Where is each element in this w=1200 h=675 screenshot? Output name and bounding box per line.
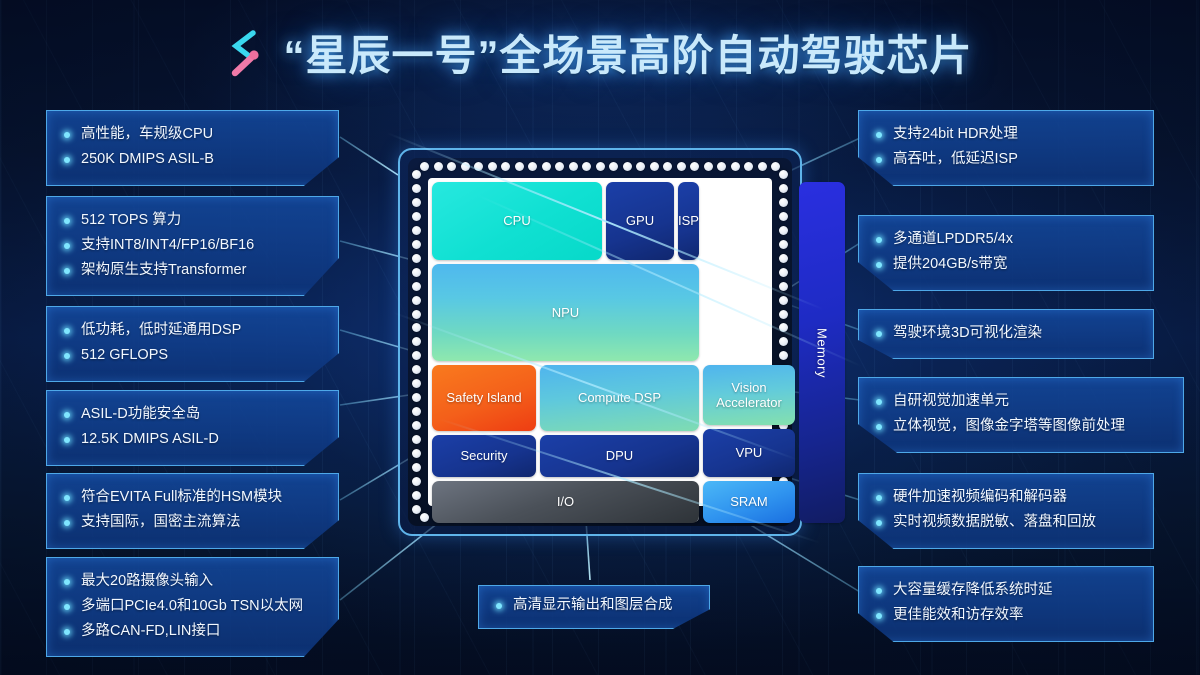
callout-line: 支持INT8/INT4/FP16/BF16 — [63, 233, 324, 258]
callout-list: 最大20路摄像头输入 多端口PCIe4.0和10Gb TSN以太网 多路CAN-… — [63, 569, 324, 644]
callout-line: 更佳能效和访存效率 — [875, 603, 1139, 628]
callout-line: 250K DMIPS ASIL-B — [63, 147, 324, 172]
callout-line: 多路CAN-FD,LIN接口 — [63, 619, 324, 644]
callout-list: 大容量缓存降低系统时延 更佳能效和访存效率 — [875, 578, 1139, 628]
block-memory-label: Memory — [814, 328, 829, 378]
callout-isp[interactable]: 支持24bit HDR处理 高吞吐，低延迟ISP — [858, 110, 1154, 186]
chip-pins-top — [420, 162, 780, 171]
callout-line: 提供204GB/s带宽 — [875, 252, 1139, 277]
callout-vpu[interactable]: 硬件加速视频编码和解码器 实时视频数据脱敏、落盘和回放 — [858, 473, 1154, 549]
callout-list: 驾驶环境3D可视化渲染 — [875, 321, 1139, 346]
callout-line: 支持24bit HDR处理 — [875, 122, 1139, 147]
callout-line: 多端口PCIe4.0和10Gb TSN以太网 — [63, 594, 324, 619]
callout-list: ASIL-D功能安全岛 12.5K DMIPS ASIL-D — [63, 402, 324, 452]
page-title: “星辰一号”全场景高阶自动驾驶芯片 — [283, 22, 972, 83]
callout-line: 大容量缓存降低系统时延 — [875, 578, 1139, 603]
callout-sram[interactable]: 大容量缓存降低系统时延 更佳能效和访存效率 — [858, 566, 1154, 642]
die-row-npu: NPU — [432, 264, 699, 361]
callout-list: 符合EVITA Full标准的HSM模块 支持国际，国密主流算法 — [63, 485, 324, 535]
callout-line: 架构原生支持Transformer — [63, 258, 324, 283]
callout-line: 高性能，车规级CPU — [63, 122, 324, 147]
chip-pins-left — [412, 170, 421, 514]
callout-line: 支持国际，国密主流算法 — [63, 510, 324, 535]
block-dpu[interactable]: DPU — [540, 435, 699, 477]
callout-list: 低功耗，低时延通用DSP 512 GFLOPS — [63, 318, 324, 368]
callout-line: 驾驶环境3D可视化渲染 — [875, 321, 1139, 346]
chip-package: CPU GPU ISP NPU Safety Island Compute DS… — [398, 148, 802, 536]
block-npu[interactable]: NPU — [432, 264, 699, 361]
callout-line: 512 GFLOPS — [63, 343, 324, 368]
callout-line: 512 TOPS 算力 — [63, 208, 324, 233]
callout-dsp[interactable]: 低功耗，低时延通用DSP 512 GFLOPS — [46, 306, 339, 382]
callout-list: 支持24bit HDR处理 高吞吐，低延迟ISP — [875, 122, 1139, 172]
callout-io[interactable]: 最大20路摄像头输入 多端口PCIe4.0和10Gb TSN以太网 多路CAN-… — [46, 557, 339, 657]
block-compute-dsp[interactable]: Compute DSP — [540, 365, 699, 431]
callout-line: 自研视觉加速单元 — [875, 389, 1169, 414]
callout-line: 高清显示输出和图层合成 — [495, 593, 695, 618]
callout-list: 多通道LPDDR5/4x 提供204GB/s带宽 — [875, 227, 1139, 277]
block-security[interactable]: Security — [432, 435, 536, 477]
chevron-star-logo-icon — [227, 27, 271, 79]
callout-list: 512 TOPS 算力 支持INT8/INT4/FP16/BF16 架构原生支持… — [63, 208, 324, 283]
callout-security[interactable]: 符合EVITA Full标准的HSM模块 支持国际，国密主流算法 — [46, 473, 339, 549]
callout-cpu[interactable]: 高性能，车规级CPU 250K DMIPS ASIL-B — [46, 110, 339, 186]
callout-safety-island[interactable]: ASIL-D功能安全岛 12.5K DMIPS ASIL-D — [46, 390, 339, 466]
block-safety-island[interactable]: Safety Island — [432, 365, 536, 431]
callout-list: 高性能，车规级CPU 250K DMIPS ASIL-B — [63, 122, 324, 172]
page-title-bar: “星辰一号”全场景高阶自动驾驶芯片 — [0, 22, 1200, 83]
callout-line: ASIL-D功能安全岛 — [63, 402, 324, 427]
block-cpu[interactable]: CPU — [432, 182, 602, 260]
callout-line: 多通道LPDDR5/4x — [875, 227, 1139, 252]
block-memory[interactable]: Memory — [799, 182, 845, 523]
chip-die: CPU GPU ISP NPU Safety Island Compute DS… — [428, 178, 772, 506]
callout-npu[interactable]: 512 TOPS 算力 支持INT8/INT4/FP16/BF16 架构原生支持… — [46, 196, 339, 296]
block-vpu[interactable]: VPU — [703, 429, 795, 477]
chip-substrate: CPU GPU ISP NPU Safety Island Compute DS… — [408, 158, 792, 526]
callout-line: 低功耗，低时延通用DSP — [63, 318, 324, 343]
die-row-mid: Safety Island Compute DSP — [432, 365, 699, 431]
callout-dpu[interactable]: 高清显示输出和图层合成 — [478, 585, 710, 629]
callout-memory[interactable]: 多通道LPDDR5/4x 提供204GB/s带宽 — [858, 215, 1154, 291]
callout-list: 硬件加速视频编码和解码器 实时视频数据脱敏、落盘和回放 — [875, 485, 1139, 535]
callout-line: 符合EVITA Full标准的HSM模块 — [63, 485, 324, 510]
callout-line: 立体视觉，图像金字塔等图像前处理 — [875, 414, 1169, 439]
callout-line: 高吞吐，低延迟ISP — [875, 147, 1139, 172]
block-isp[interactable]: ISP — [678, 182, 699, 260]
callout-list: 高清显示输出和图层合成 — [495, 593, 695, 618]
die-row-sec: Security DPU — [432, 435, 699, 477]
block-vision-accelerator[interactable]: Vision Accelerator — [703, 365, 795, 425]
block-sram[interactable]: SRAM — [703, 481, 795, 523]
callout-line: 实时视频数据脱敏、落盘和回放 — [875, 510, 1139, 535]
die-row-io: I/O — [432, 481, 699, 523]
callout-gpu[interactable]: 驾驶环境3D可视化渲染 — [858, 309, 1154, 359]
die-right-column: Vision Accelerator VPU SRAM — [703, 182, 795, 523]
slide-canvas: “星辰一号”全场景高阶自动驾驶芯片 — [0, 0, 1200, 675]
callout-line: 最大20路摄像头输入 — [63, 569, 324, 594]
block-gpu[interactable]: GPU — [606, 182, 674, 260]
callout-line: 12.5K DMIPS ASIL-D — [63, 427, 324, 452]
die-row-top: CPU GPU ISP — [432, 182, 699, 260]
callout-list: 自研视觉加速单元 立体视觉，图像金字塔等图像前处理 — [875, 389, 1169, 439]
callout-vision-accelerator[interactable]: 自研视觉加速单元 立体视觉，图像金字塔等图像前处理 — [858, 377, 1184, 453]
block-io[interactable]: I/O — [432, 481, 699, 523]
callout-line: 硬件加速视频编码和解码器 — [875, 485, 1139, 510]
